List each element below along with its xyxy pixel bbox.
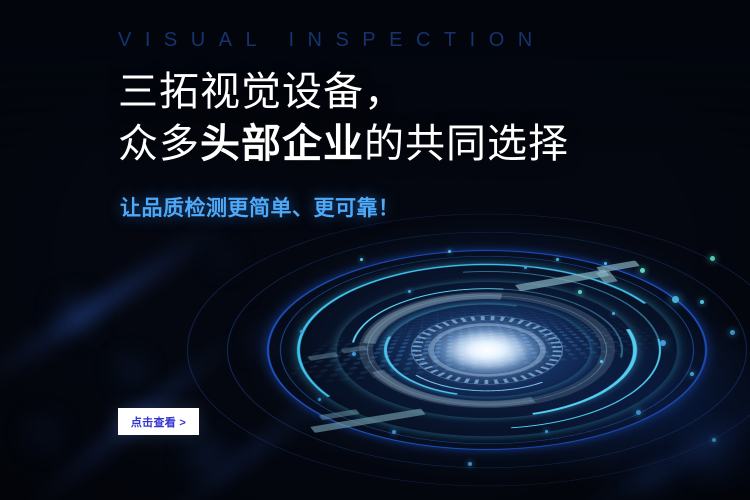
headline-line-1: 三拓视觉设备，	[118, 66, 569, 118]
headline-line2-suffix: 的共同选择	[364, 122, 569, 166]
headline-line2-prefix: 众多	[118, 122, 200, 166]
headline-line1-text: 三拓视觉设备，	[118, 70, 405, 114]
kicker-text: VISUAL INSPECTION	[118, 29, 546, 52]
view-details-button[interactable]: 点击查看 >	[118, 408, 199, 435]
headline-line2-emphasis: 头部企业	[200, 122, 364, 166]
visual-inspection-banner: VISUAL INSPECTION 三拓视觉设备， 众多头部企业的共同选择 让品…	[0, 0, 750, 500]
headline-line-2: 众多头部企业的共同选择	[118, 118, 569, 170]
subtitle-text: 让品质检测更简单、更可靠！	[120, 192, 400, 222]
page-title: 三拓视觉设备， 众多头部企业的共同选择	[118, 66, 569, 170]
view-details-button-label: 点击查看 >	[131, 414, 186, 430]
